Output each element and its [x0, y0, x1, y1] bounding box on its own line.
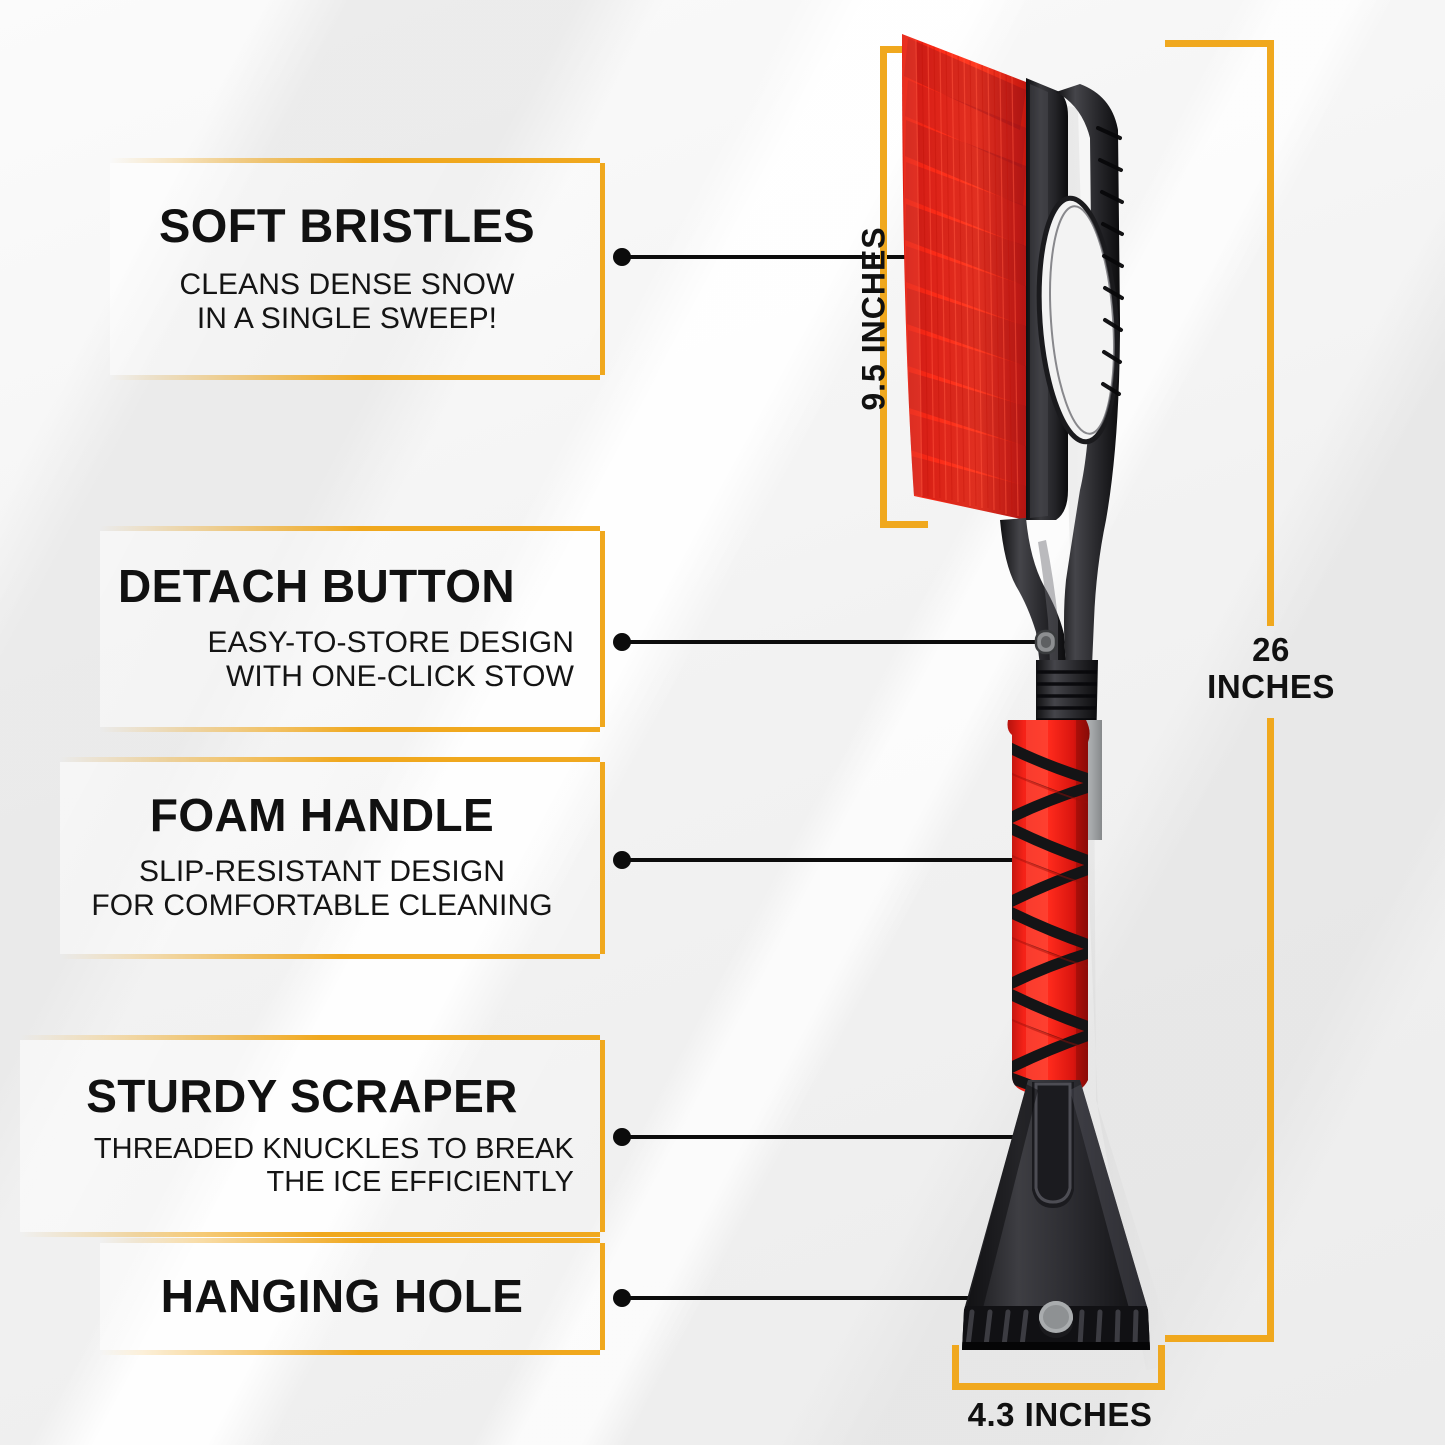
leader-origin-dot [613, 1289, 631, 1307]
leader-origin-dot [613, 633, 631, 651]
callout-title-hanging-hole: HANGING HOLE [110, 1273, 574, 1320]
callout-subtitle-line: SLIP-RESISTANT DESIGN [70, 855, 574, 889]
callout-title-soft-bristles: SOFT BRISTLES [120, 202, 574, 250]
callout-foam-handle: FOAM HANDLE SLIP-RESISTANT DESIGN FOR CO… [60, 762, 605, 954]
callout-subtitle-line: WITH ONE-CLICK STOW [110, 660, 574, 694]
foam-grip [1006, 718, 1092, 1104]
callout-sturdy-scraper: STURDY SCRAPER THREADED KNUCKLES TO BREA… [20, 1040, 605, 1232]
callout-subtitle-line: CLEANS DENSE SNOW [120, 268, 574, 302]
callout-title-detach-button: DETACH BUTTON [110, 563, 574, 610]
leader-origin-dot [613, 248, 631, 266]
detach-button-upper [1036, 631, 1056, 653]
callout-detach-button: DETACH BUTTON EASY-TO-STORE DESIGN WITH … [100, 531, 605, 727]
callout-title-sturdy-scraper: STURDY SCRAPER [30, 1073, 574, 1120]
callout-subtitle-soft-bristles: CLEANS DENSE SNOW IN A SINGLE SWEEP! [120, 268, 574, 336]
callout-subtitle-line: EASY-TO-STORE DESIGN [110, 626, 574, 660]
dimension-bracket-26-inches-upper-vertical [1267, 40, 1274, 626]
brush-bristles [902, 34, 1026, 522]
callout-hanging-hole: HANGING HOLE [100, 1243, 605, 1350]
callout-subtitle-line: FOR COMFORTABLE CLEANING [70, 889, 574, 923]
callout-subtitle-detach-button: EASY-TO-STORE DESIGN WITH ONE-CLICK STOW [110, 626, 574, 694]
callout-subtitle-sturdy-scraper: THREADED KNUCKLES TO BREAK THE ICE EFFIC… [30, 1133, 574, 1199]
callout-subtitle-line: THE ICE EFFICIENTLY [30, 1166, 574, 1199]
leader-origin-dot [613, 1128, 631, 1146]
leader-origin-dot [613, 851, 631, 869]
dimension-bracket-26-inches-lower-vertical [1267, 718, 1274, 1342]
callout-subtitle-line: IN A SINGLE SWEEP! [120, 302, 574, 336]
product-photo-snow-brush [830, 20, 1250, 1420]
callout-subtitle-foam-handle: SLIP-RESISTANT DESIGN FOR COMFORTABLE CL… [70, 855, 574, 923]
callout-soft-bristles: SOFT BRISTLES CLEANS DENSE SNOW IN A SIN… [110, 163, 605, 375]
hanging-hole [1039, 1301, 1073, 1338]
callout-subtitle-line: THREADED KNUCKLES TO BREAK [30, 1133, 574, 1166]
callout-title-foam-handle: FOAM HANDLE [70, 792, 574, 839]
